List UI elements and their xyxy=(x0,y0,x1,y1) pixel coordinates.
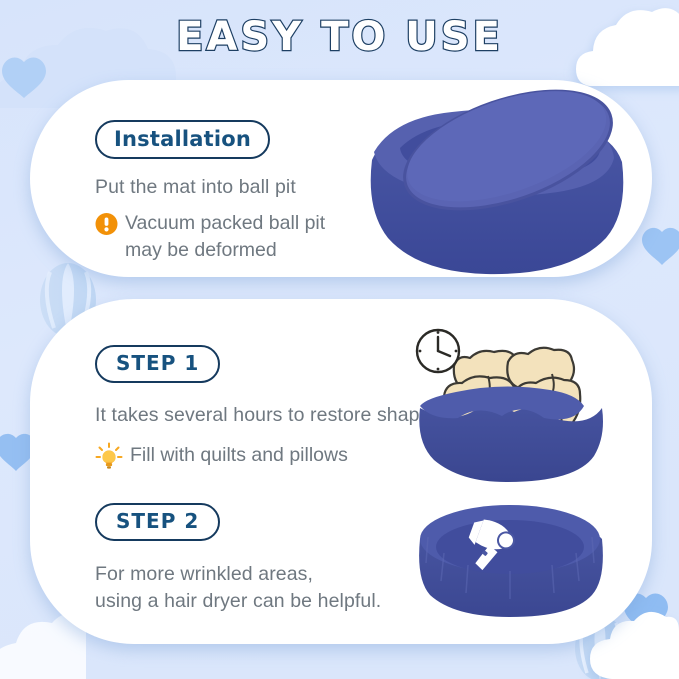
clock-icon xyxy=(417,330,459,372)
lightbulb-icon xyxy=(95,442,123,470)
installation-note: Vacuum packed ball pit may be deformed xyxy=(95,210,345,264)
installation-text-block: Installation Put the mat into ball pit V… xyxy=(95,120,345,264)
step1-text-block: STEP 1 It takes several hours to restore… xyxy=(95,345,431,470)
step2-line-1: For more wrinkled areas, xyxy=(95,561,381,588)
installation-badge: Installation xyxy=(95,120,270,159)
ball-pit-with-hair-dryer-illustration xyxy=(414,497,609,622)
step2-badge: STEP 2 xyxy=(95,503,220,541)
ball-pit-with-pillows-illustration xyxy=(402,312,612,482)
installation-note-text: Vacuum packed ball pit may be deformed xyxy=(125,210,345,264)
warning-icon xyxy=(95,210,118,237)
step2-line-2: using a hair dryer can be helpful. xyxy=(95,588,381,615)
step1-note: Fill with quilts and pillows xyxy=(95,442,431,470)
installation-line-1: Put the mat into ball pit xyxy=(95,174,345,201)
step1-line-1: It takes several hours to restore shape xyxy=(95,402,431,429)
page-title: EASY TO USE xyxy=(0,14,679,60)
step1-badge: STEP 1 xyxy=(95,345,220,383)
heart-right xyxy=(642,228,679,265)
step1-note-text: Fill with quilts and pillows xyxy=(130,442,348,469)
ball-pit-with-mat-illustration xyxy=(358,82,628,277)
heart-top-left xyxy=(2,57,46,98)
step2-text-block: STEP 2 For more wrinkled areas, using a … xyxy=(95,503,381,615)
infographic-root: EASY TO USE Installation Put the mat int… xyxy=(0,0,679,679)
